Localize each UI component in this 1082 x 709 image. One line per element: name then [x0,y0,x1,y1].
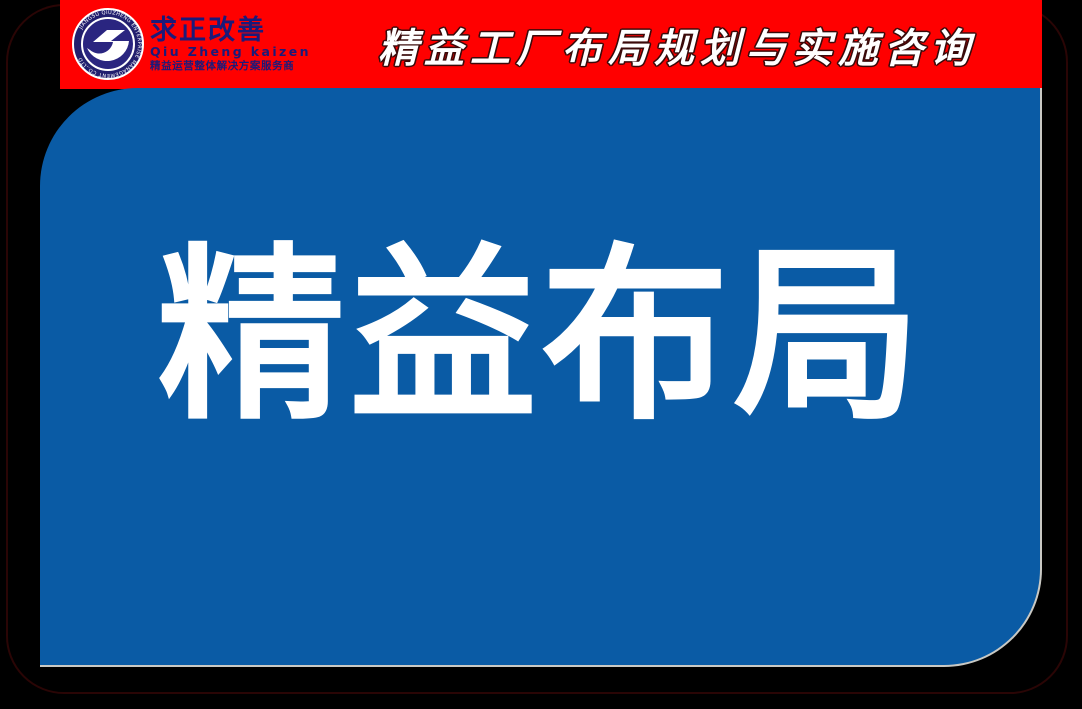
banner-title: 精益工厂布局规划与实施咨询 [312,0,1042,89]
slide-canvas: JIANGSU QIUZHENG ENTERPRISE MANAGEMENT C… [0,0,1082,709]
header-banner: JIANGSU QIUZHENG ENTERPRISE MANAGEMENT C… [60,0,1042,89]
company-tagline: 精益运营整体解决方案服务商 [150,61,311,72]
company-logo: JIANGSU QIUZHENG ENTERPRISE MANAGEMENT C… [72,4,290,84]
company-emblem-icon: JIANGSU QIUZHENG ENTERPRISE MANAGEMENT C… [72,8,144,80]
content-panel: 精益布局 [40,88,1042,667]
company-name-pinyin: Qiu Zheng kaizen [150,46,311,59]
emblem-swoosh-icon [81,17,135,71]
slide-main-title: 精益布局 [40,238,1042,435]
company-name-block: 求正改善 Qiu Zheng kaizen 精益运营整体解决方案服务商 [150,17,311,72]
company-name-cn: 求正改善 [150,17,311,44]
